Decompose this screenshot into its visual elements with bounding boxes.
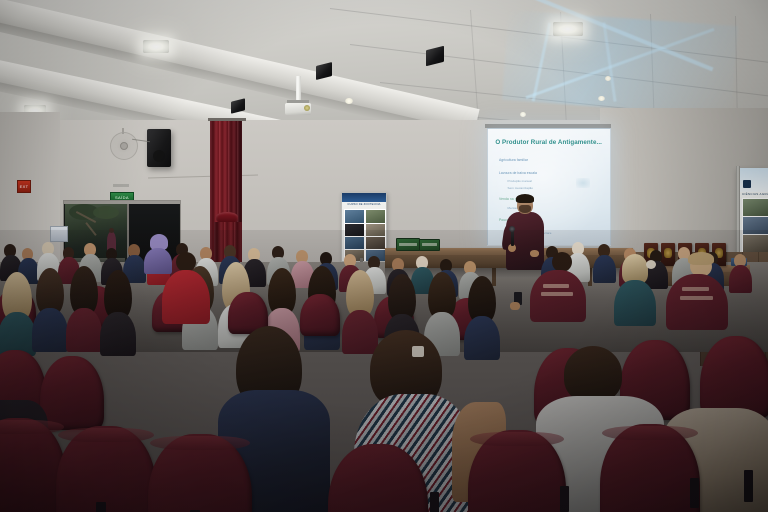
- poster-photo: [365, 209, 386, 224]
- slide-bullet: Agricultura familiar: [499, 158, 528, 162]
- banner-photo: [742, 198, 768, 217]
- chair-leg: [96, 502, 106, 512]
- tree-foliage: [93, 206, 119, 219]
- slide-bullet: Lavoura de baixa escala: [499, 171, 537, 175]
- curtain-rod: [208, 118, 246, 121]
- hair-clip: [412, 346, 424, 357]
- shirt-print: [541, 292, 572, 296]
- door-header: [64, 201, 180, 204]
- exit-sign-label: SAÍDA: [115, 195, 129, 200]
- slide-title: O Produtor Rural de Antigamente...: [495, 139, 605, 146]
- fan-hub-icon: [120, 142, 128, 150]
- chair-rim: [58, 428, 154, 442]
- audience-person: [729, 265, 752, 293]
- audience-person: [100, 312, 136, 356]
- slide-bullet: Produção manual: [508, 179, 532, 183]
- projector-lens-icon: [304, 105, 310, 111]
- fire-extinguisher-sign: EXT: [17, 180, 31, 193]
- auditorium-chair[interactable]: [40, 356, 104, 430]
- shirt-print: [543, 284, 569, 288]
- audience-person-tshirt: [666, 274, 728, 330]
- presenter-beard: [519, 205, 531, 213]
- audience-person: [32, 308, 68, 352]
- auditorium-chair[interactable]: [700, 336, 768, 418]
- banner-logo: [743, 180, 751, 188]
- audience-person-tshirt: [530, 270, 586, 322]
- ceiling-light: [345, 98, 353, 104]
- chair-leg: [690, 478, 699, 508]
- slide-graphic: [576, 178, 590, 188]
- audience-head: [552, 252, 572, 272]
- audience-hand: [510, 302, 520, 310]
- audience-person: [162, 270, 210, 324]
- presenter-hair: [516, 194, 534, 203]
- banner-title: CIÊNCIAS AGRÁRIAS: [742, 192, 768, 196]
- slide-bullet: Sem mecanização: [508, 186, 533, 190]
- chair-rim: [150, 436, 250, 450]
- chair-leg: [560, 486, 569, 512]
- fire-sign-label: EXT: [20, 184, 29, 189]
- ceiling-light: [143, 40, 169, 53]
- poster-photo: [344, 209, 365, 224]
- poster-title: CURSO DE ZOOTECNIA: [342, 203, 386, 206]
- poster-header-band: [342, 193, 386, 202]
- audience-person: [614, 280, 656, 326]
- fan-bracket: [122, 128, 124, 134]
- audience-head: [564, 346, 622, 402]
- chair-rim: [602, 426, 698, 440]
- audience-person: [66, 308, 102, 352]
- audience: [0, 230, 768, 512]
- ceiling-light: [598, 96, 605, 101]
- shirt-print: [682, 287, 709, 291]
- hair-tie: [646, 260, 656, 269]
- speaker-cone-icon: [153, 150, 165, 162]
- chair-rim: [470, 432, 564, 446]
- audience-hair: [370, 330, 442, 404]
- chair-rim: [0, 420, 64, 434]
- chair-leg: [744, 470, 753, 502]
- ceiling-light: [605, 76, 611, 81]
- audience-person: [593, 255, 616, 283]
- ceiling-light: [553, 22, 583, 36]
- audience-head: [176, 252, 196, 272]
- audience-hair: [688, 252, 714, 265]
- shirt-print: [680, 296, 713, 300]
- audience-person: [464, 316, 500, 360]
- ceiling-light: [520, 112, 526, 117]
- audience-person: [144, 248, 172, 274]
- ceiling-sign-small: [113, 184, 129, 187]
- chair-leg: [430, 492, 439, 512]
- auditorium-chair[interactable]: [300, 294, 340, 336]
- auditorium-photo: EXT SAÍDA CURSO DE ZOOTECNIA: [0, 0, 768, 512]
- audience-person: [342, 310, 378, 354]
